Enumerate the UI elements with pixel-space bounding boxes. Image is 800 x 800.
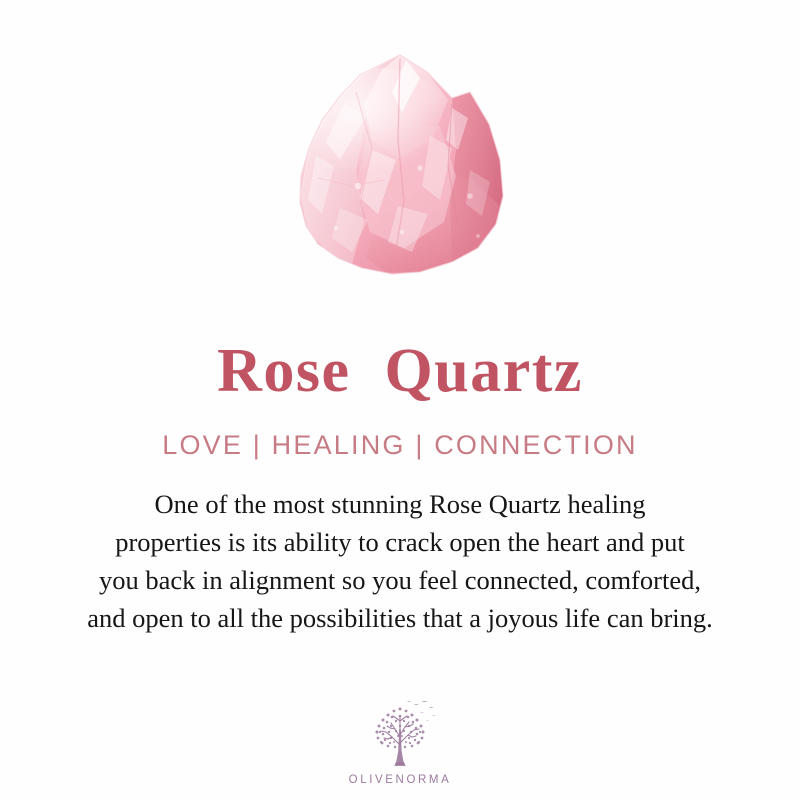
product-info-card: Rose Quartz LOVE | HEALING | CONNECTION … xyxy=(0,0,800,800)
description-line: you back in alignment so you feel connec… xyxy=(30,561,770,599)
brand-logo: OLIVENORMA xyxy=(0,699,800,786)
tree-of-life-icon xyxy=(354,699,446,773)
description-line: and open to all the possibilities that a… xyxy=(30,599,770,637)
product-image-container xyxy=(0,0,800,300)
product-description: One of the most stunning Rose Quartz hea… xyxy=(30,485,770,637)
brand-wordmark: OLIVENORMA xyxy=(349,774,452,786)
description-line: One of the most stunning Rose Quartz hea… xyxy=(30,485,770,523)
product-keywords: LOVE | HEALING | CONNECTION xyxy=(162,430,638,461)
page-title: Rose Quartz xyxy=(217,340,583,402)
rose-quartz-crystal-image xyxy=(0,0,800,300)
description-line: properties is its ability to crack open … xyxy=(30,523,770,561)
